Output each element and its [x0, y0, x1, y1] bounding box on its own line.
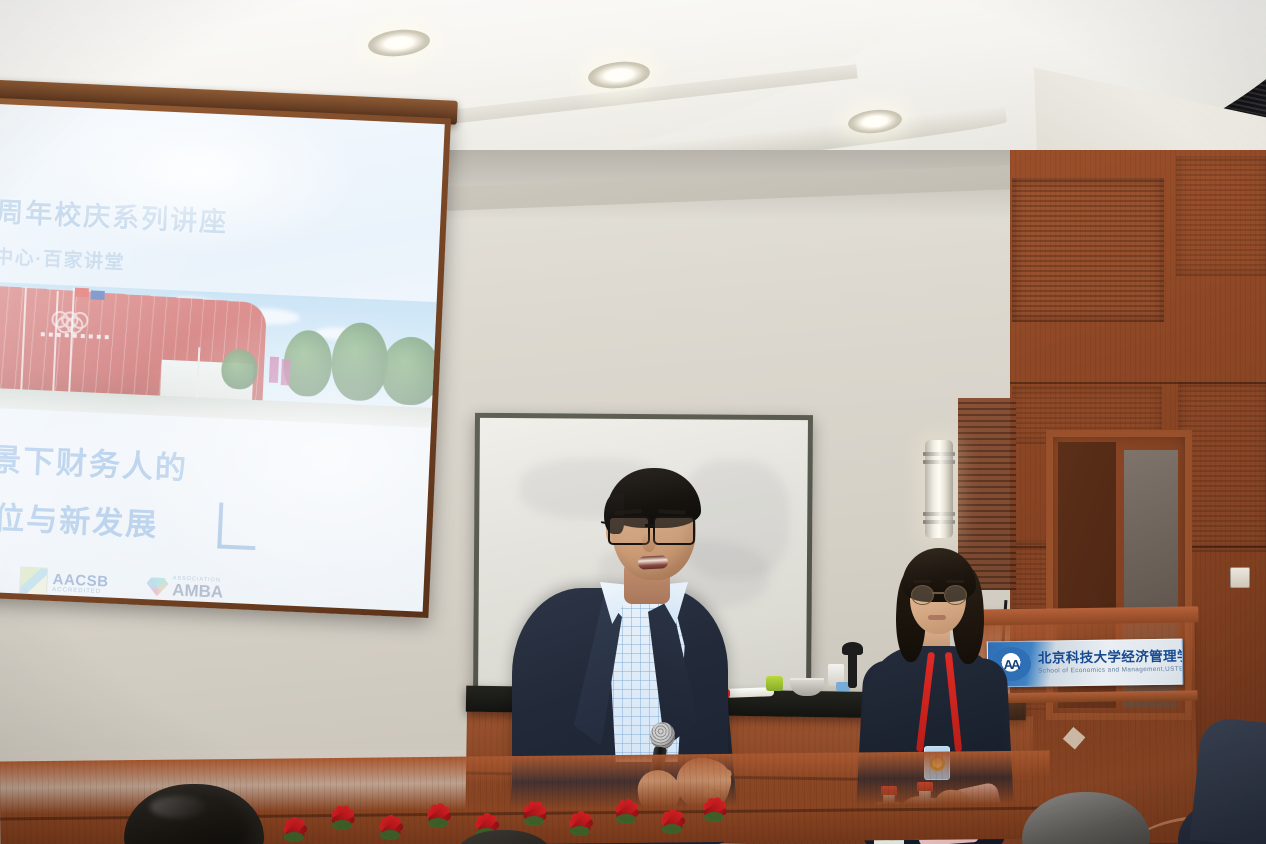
aacsb-square-icon — [19, 566, 48, 595]
whiteboard-eraser[interactable] — [766, 676, 783, 691]
man-glasses-icon — [608, 516, 704, 542]
light-switch[interactable] — [1230, 567, 1250, 588]
podium-sign: AA 北京科技大学经济管理学院 School of Economics and … — [987, 639, 1184, 688]
projection-screen: 大学70周年校庆系列讲座 学院专硕中心·百家讲堂 — [0, 86, 460, 627]
amba-label: AMBA — [172, 582, 224, 601]
slide-title-line1: 经济背景下财务人的 — [0, 430, 362, 496]
woman-glasses-icon — [911, 585, 967, 603]
podium-paper-note — [1063, 727, 1086, 750]
woman-eyebrow — [913, 580, 931, 583]
slide-accreditation-logos: AA AACSB ACCREDITED ASSOCIATION AMB — [0, 557, 410, 612]
woman-eyebrow — [946, 580, 964, 583]
projection-screen-surface: 大学70周年校庆系列讲座 学院专硕中心·百家讲堂 — [0, 104, 445, 612]
podium-sign-english: School of Economics and Management,USTB — [1038, 666, 1183, 675]
slide-title-line2: 业新定位与新发展 — [0, 488, 365, 554]
flag-red — [75, 288, 89, 298]
projection-screen-border: 大学70周年校庆系列讲座 学院专硕中心·百家讲堂 — [0, 98, 451, 618]
slide-heading-line2: 学院专硕中心·百家讲堂 — [0, 238, 373, 286]
slide-corner-bracket — [217, 502, 257, 550]
aacsb-logo: AACSB ACCREDITED — [19, 566, 109, 598]
wood-seam — [1010, 382, 1266, 384]
street-banner — [269, 357, 279, 383]
amba-logo: ASSOCIATION AMBA — [146, 575, 224, 601]
lecture-hall-photo: 大学70周年校庆系列讲座 学院专硕中心·百家讲堂 — [0, 0, 1266, 844]
podium-sign-chinese: 北京科技大学经济管理学院 — [1038, 650, 1183, 667]
street-banner — [281, 359, 291, 385]
slide-heading-line1: 大学70周年校庆系列讲座 — [0, 186, 365, 246]
microphone-clip[interactable] — [848, 652, 857, 688]
amba-gem-icon — [146, 577, 169, 597]
wood-slat-panel — [1012, 178, 1164, 322]
flag-blue — [90, 290, 104, 300]
wall-sconce-light — [925, 440, 953, 538]
man-mouth — [638, 555, 669, 570]
man-nose — [642, 532, 656, 552]
wood-panel — [1176, 156, 1266, 276]
poinsettia-row — [180, 792, 740, 844]
woman-mouth — [928, 615, 946, 620]
slide-building-photo — [0, 282, 439, 428]
